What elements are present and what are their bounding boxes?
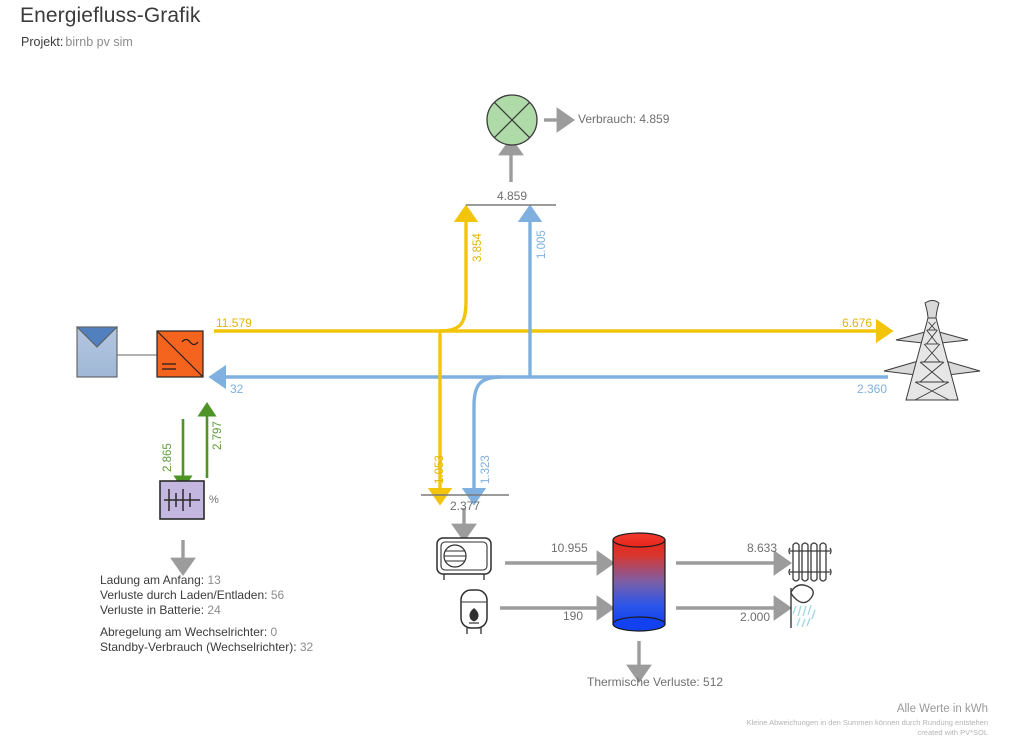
note-row: Verluste in Batterie: 24 (100, 603, 284, 618)
note-row: Abregelung am Wechselrichter: 0 (100, 625, 313, 640)
note-text: Standby-Verbrauch (Wechselrichter): (100, 640, 297, 654)
consumption-label: Verbrauch: 4.859 (578, 112, 669, 126)
note-text: Verluste in Batterie: (100, 603, 204, 617)
note-text: Verluste durch Laden/Entladen: (100, 588, 267, 602)
tank-to-shower-label: 2.000 (740, 610, 770, 624)
note-value: 0 (271, 625, 278, 639)
thermal-storage-tank-icon (613, 533, 665, 631)
note-value: 13 (207, 573, 220, 587)
footer-units: Alle Werte in kWh (897, 703, 988, 715)
note-row: Ladung am Anfang: 13 (100, 573, 284, 588)
energy-flow-diagram: Energiefluss-Grafik Projekt:birnb pv sim (0, 0, 1032, 750)
grid-pylon-icon (884, 301, 980, 401)
shower-water (793, 605, 815, 627)
up-blue-label: 1.005 (536, 230, 548, 259)
note-value: 56 (271, 588, 284, 602)
footer-notes: Kleine Abweichungen in den Summen können… (747, 718, 988, 738)
battery-discharge-label: 2.797 (212, 421, 224, 450)
hp-to-tank-label: 10.955 (551, 541, 588, 555)
boiler-icon (461, 590, 487, 634)
note-row: Standby-Verbrauch (Wechselrichter): 32 (100, 640, 313, 655)
radiator-icon (789, 543, 831, 581)
up-yellow-label: 3.854 (472, 233, 484, 262)
note-row: Verluste durch Laden/Entladen: 56 (100, 588, 284, 603)
note-text: Ladung am Anfang: (100, 573, 204, 587)
pv-to-bus-label: 11.579 (216, 316, 252, 330)
consumption-total-label: 4.859 (497, 189, 527, 203)
grid-draw-label: 2.360 (857, 382, 887, 396)
note-value: 24 (207, 603, 220, 617)
battery-charge-label: 2.865 (162, 443, 174, 472)
battery-percent-label: % (209, 494, 219, 506)
down-blue-label: 1.323 (480, 455, 492, 484)
tank-to-radiator-label: 8.633 (747, 541, 777, 555)
down-total-label: 2.377 (450, 499, 480, 513)
boiler-to-tank-label: 190 (563, 609, 583, 623)
inverter-notes: Abregelung am Wechselrichter: 0 Standby-… (100, 625, 313, 655)
note-text: Abregelung am Wechselrichter: (100, 625, 267, 639)
footer-note-rounding: Kleine Abweichungen in den Summen können… (747, 718, 988, 728)
footer-note-created-with: created with PV*SOL (747, 728, 988, 738)
inverter-standby-label: 32 (230, 382, 243, 396)
note-value: 32 (300, 640, 313, 654)
grid-feed-in-label: 6.676 (842, 316, 872, 330)
heat-pump-icon (437, 538, 491, 580)
battery-notes: Ladung am Anfang: 13 Verluste durch Lade… (100, 573, 284, 618)
thermal-losses-label: Thermische Verluste: 512 (587, 675, 723, 689)
down-yellow-label: 1.053 (434, 455, 446, 484)
